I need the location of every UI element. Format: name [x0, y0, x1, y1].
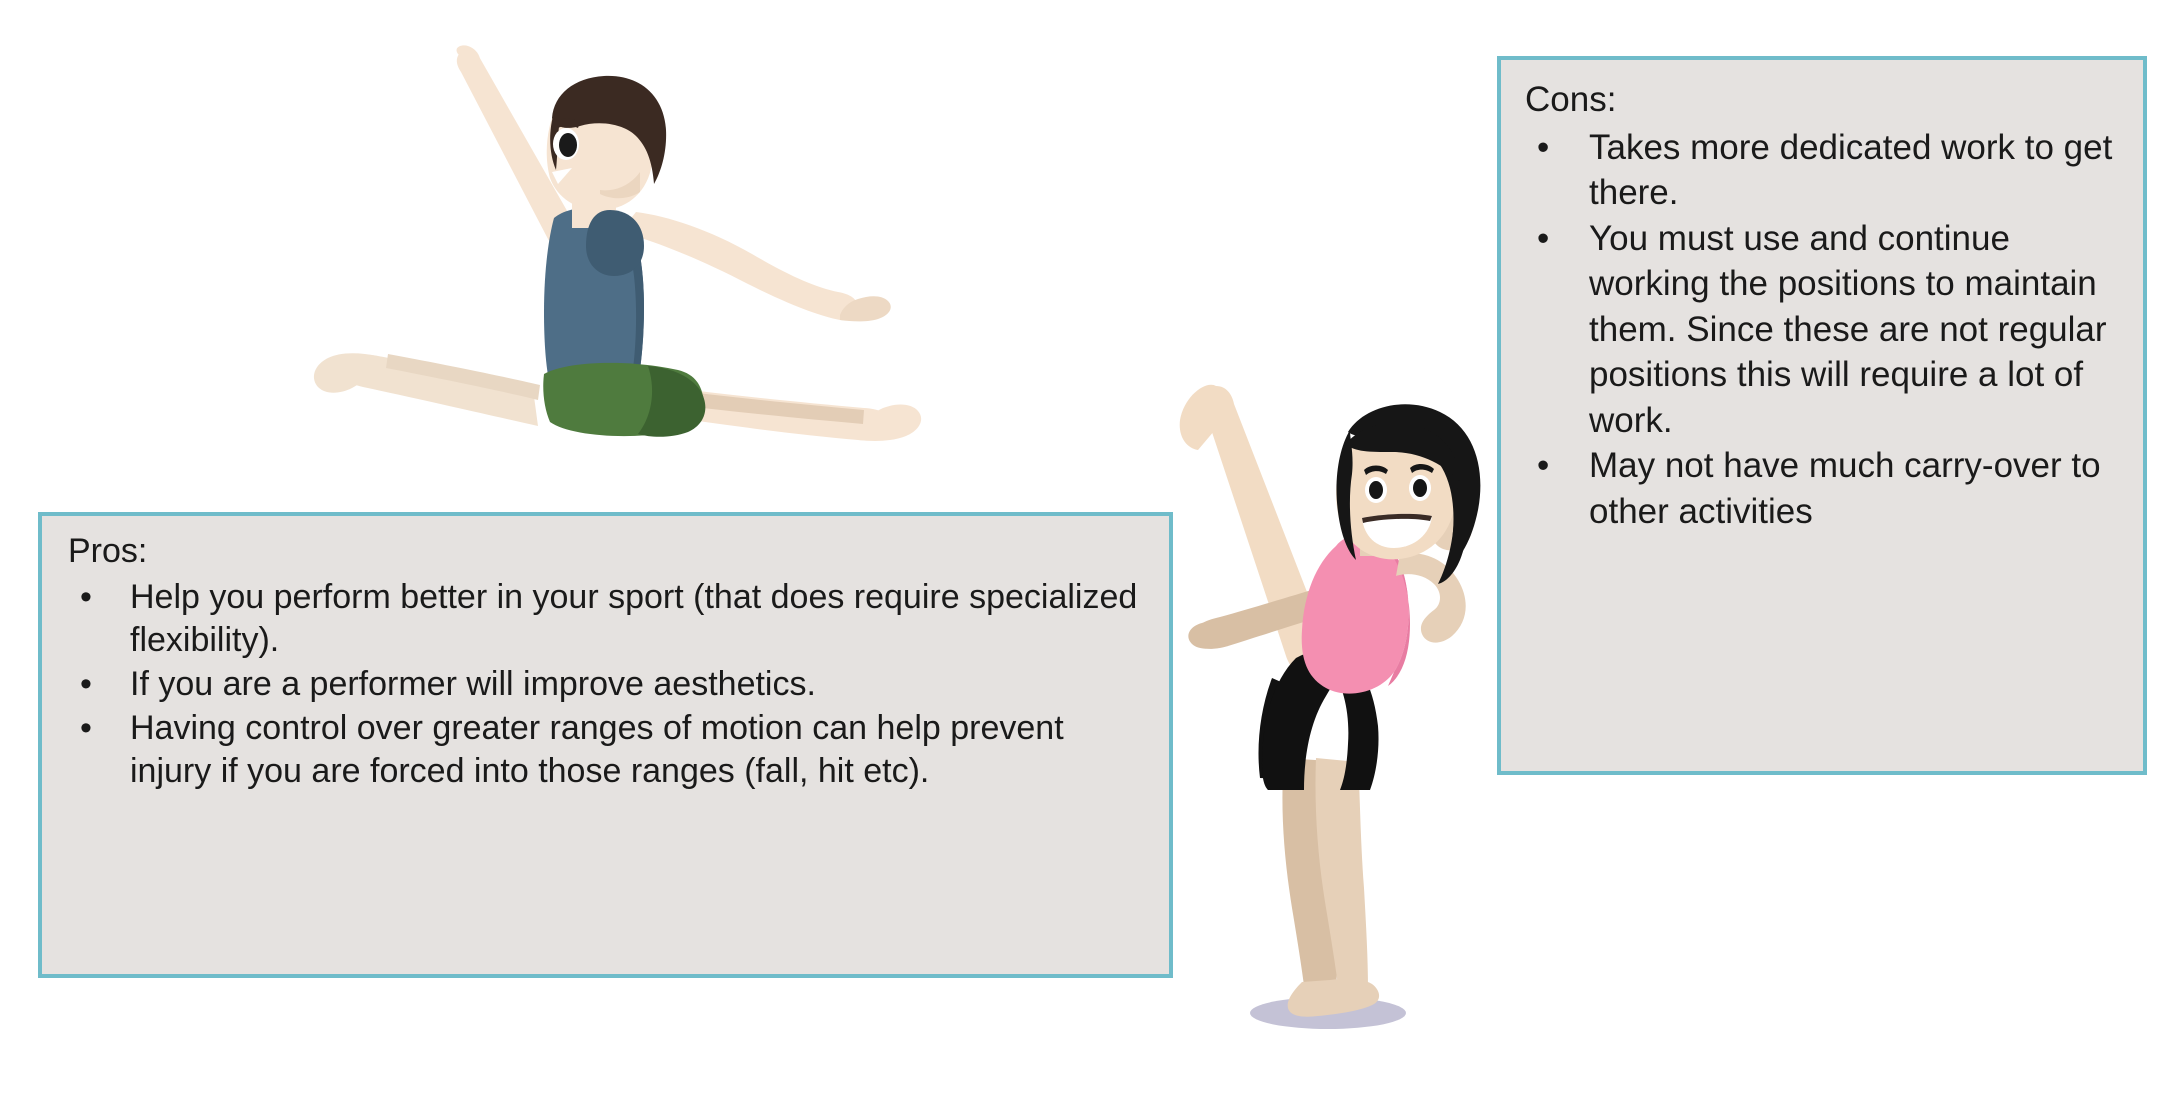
tank-top-shadow	[606, 212, 644, 401]
head	[547, 90, 653, 210]
tank-top	[544, 207, 644, 401]
pros-bullet-item: • Having control over greater ranges of …	[68, 707, 1151, 794]
raised-hand	[457, 45, 480, 68]
pros-bullet-text: Having control over greater ranges of mo…	[130, 709, 1064, 791]
back-leg-upper	[339, 354, 538, 426]
left-eyebrow	[1364, 466, 1388, 476]
shorts-front	[1330, 654, 1379, 790]
shorts	[543, 363, 704, 436]
bullet-icon: •	[80, 707, 92, 751]
standing-leg-back	[1282, 758, 1346, 988]
front-foot	[858, 405, 921, 441]
leotard-shadow	[1382, 544, 1410, 686]
cons-bullet-text: Takes more dedicated work to get there.	[1589, 128, 2112, 213]
shorts-back	[1259, 678, 1323, 780]
back-leg-shadow	[386, 354, 540, 400]
kicking-leg	[1202, 386, 1330, 676]
back-foot	[314, 353, 379, 393]
cons-bullet-text: You must use and continue working the po…	[1589, 219, 2107, 440]
hair-fringe	[1346, 423, 1460, 482]
mouth-line	[1362, 514, 1432, 523]
shorts-main	[1262, 648, 1364, 790]
bent-arm	[1396, 553, 1466, 642]
female-dancer-high-kick-illustration	[1168, 378, 1518, 1043]
cons-bullet-list: • Takes more dedicated work to get there…	[1525, 125, 2123, 535]
right-eyebrow	[1410, 464, 1434, 473]
pros-heading: Pros:	[68, 530, 1151, 574]
head	[1336, 425, 1456, 560]
hair-left-strand	[1337, 430, 1357, 560]
hair-back	[1348, 404, 1480, 570]
jaw-shadow	[600, 172, 640, 198]
cons-bullet-text: May not have much carry-over to other ac…	[1589, 446, 2101, 531]
pros-bullet-item: • Help you perform better in your sport …	[68, 576, 1151, 663]
cons-bullet-item: • You must use and continue working the …	[1525, 216, 2123, 444]
bullet-icon: •	[1537, 443, 1549, 489]
mouth	[552, 168, 572, 184]
right-eye-pupil	[1413, 479, 1427, 497]
kicking-foot	[1180, 385, 1220, 450]
forward-hand	[840, 296, 891, 321]
forward-arm	[620, 212, 858, 320]
front-leg-shadow	[654, 388, 864, 424]
pros-callout-box: Pros: • Help you perform better in your …	[38, 512, 1173, 978]
pros-bullet-list: • Help you perform better in your sport …	[68, 576, 1151, 794]
shorts-shadow	[638, 366, 705, 437]
eye-white	[553, 128, 579, 160]
raised-arm	[457, 49, 576, 246]
bullet-icon: •	[80, 663, 92, 707]
bullet-icon: •	[1537, 125, 1549, 171]
hair	[552, 76, 666, 184]
hair-sideburn	[550, 116, 560, 170]
neck	[1360, 528, 1396, 556]
hair-right-strand	[1438, 482, 1466, 584]
neck	[572, 194, 616, 228]
cons-bullet-item: • Takes more dedicated work to get there…	[1525, 125, 2123, 216]
cons-heading: Cons:	[1525, 78, 2123, 123]
leotard-top	[1302, 535, 1409, 693]
back-arm	[1194, 588, 1324, 649]
shoulder-cap	[586, 210, 644, 276]
cons-bullet-item: • May not have much carry-over to other …	[1525, 443, 2123, 534]
right-eye-white	[1409, 475, 1431, 501]
left-eye-white	[1365, 477, 1387, 503]
pros-bullet-text: If you are a performer will improve aest…	[130, 665, 816, 703]
male-gymnast-split-leap-illustration	[248, 44, 958, 474]
raised-hand-behind-head	[1430, 503, 1473, 550]
front-leg	[652, 386, 891, 440]
back-hand	[1188, 622, 1228, 649]
bullet-icon: •	[1537, 216, 1549, 262]
pros-bullet-item: • If you are a performer will improve ae…	[68, 663, 1151, 707]
mouth	[1362, 514, 1432, 548]
eyebrow	[552, 119, 580, 131]
cons-callout-box: Cons: • Takes more dedicated work to get…	[1497, 56, 2147, 775]
slide-canvas: Pros: • Help you perform better in your …	[0, 0, 2179, 1093]
standing-foot	[1288, 979, 1379, 1017]
floor-shadow	[1250, 997, 1406, 1029]
eye-pupil	[559, 133, 577, 157]
bullet-icon: •	[80, 576, 92, 620]
pros-bullet-text: Help you perform better in your sport (t…	[130, 578, 1137, 660]
left-eye-pupil	[1369, 481, 1383, 499]
standing-leg-front	[1315, 758, 1368, 988]
